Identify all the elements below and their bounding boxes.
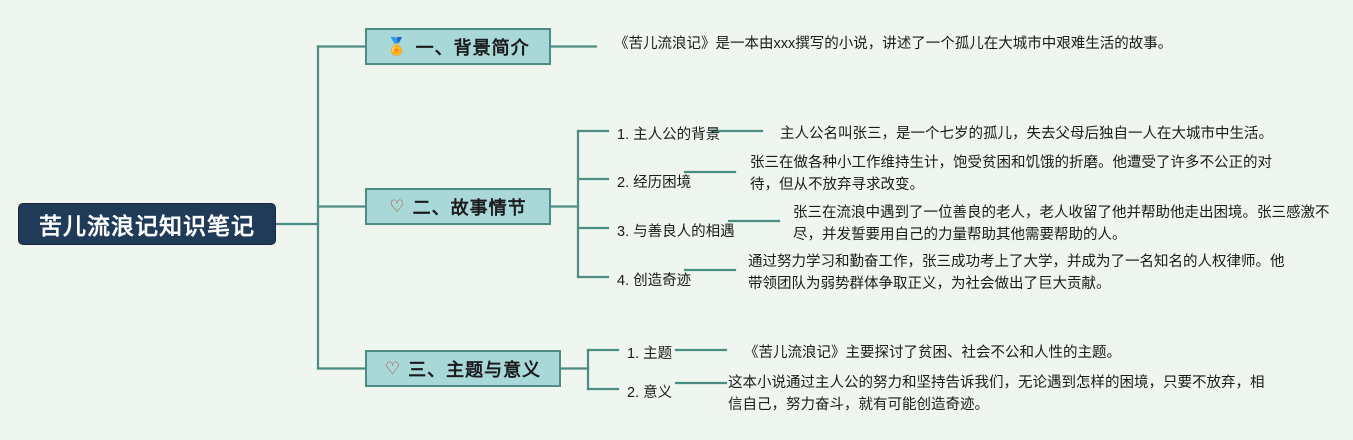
sub-item-label[interactable]: 1. 主题 xyxy=(627,342,672,363)
branch-node-label: 三、主题与意义 xyxy=(408,356,541,382)
medal-icon: 🏅 xyxy=(386,38,408,55)
sub-item-label[interactable]: 2. 意义 xyxy=(627,381,672,402)
branch-node-label: 一、背景简介 xyxy=(416,34,530,60)
heart-icon: ♡ xyxy=(389,198,405,215)
sub-item-label[interactable]: 1. 主人公的背景 xyxy=(617,123,720,144)
branch-node-label: 二、故事情节 xyxy=(413,194,527,220)
sub-item-label[interactable]: 4. 创造奇迹 xyxy=(617,269,691,290)
sub-item-text: 《苦儿流浪记》主要探讨了贫困、社会不公和人性的主题。 xyxy=(744,342,1304,364)
sub-item-label[interactable]: 3. 与善良人的相遇 xyxy=(617,220,735,241)
heart-icon: ♡ xyxy=(385,360,401,377)
branch-node-background[interactable]: 🏅 一、背景简介 xyxy=(365,28,551,65)
mindmap-canvas: 苦儿流浪记知识笔记 🏅 一、背景简介 《苦儿流浪记》是一本由xxx撰写的小说，讲… xyxy=(0,0,1353,440)
sub-item-text: 主人公名叫张三，是一个七岁的孤儿，失去父母后独自一人在大城市中生活。 xyxy=(780,123,1340,145)
sub-item-text: 这本小说通过主人公的努力和坚持告诉我们，无论遇到怎样的困境，只要不放弃，相信自己… xyxy=(728,372,1268,417)
root-node[interactable]: 苦儿流浪记知识笔记 xyxy=(18,203,276,245)
sub-item-label[interactable]: 2. 经历困境 xyxy=(617,171,691,192)
sub-item-text: 通过努力学习和勤奋工作，张三成功考上了大学，并成为了一名知名的人权律师。他带领团… xyxy=(748,251,1288,296)
sub-item-text: 张三在流浪中遇到了一位善良的老人，老人收留了他并帮助他走出困境。张三感激不尽，并… xyxy=(793,202,1333,247)
leaf-text-background: 《苦儿流浪记》是一本由xxx撰写的小说，讲述了一个孤儿在大城市中艰难生活的故事。 xyxy=(614,33,1174,55)
branch-node-story[interactable]: ♡ 二、故事情节 xyxy=(365,188,551,225)
root-node-label: 苦儿流浪记知识笔记 xyxy=(39,207,255,241)
sub-item-text: 张三在做各种小工作维持生计，饱受贫困和饥饿的折磨。他遭受了许多不公正的对待，但从… xyxy=(750,152,1290,197)
branch-node-theme[interactable]: ♡ 三、主题与意义 xyxy=(365,350,561,387)
